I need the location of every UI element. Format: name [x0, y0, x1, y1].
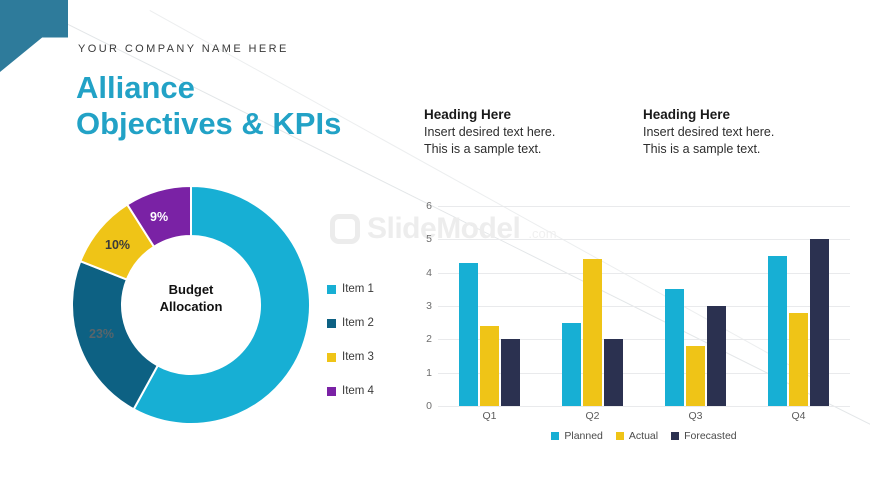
- bar-actual[interactable]: [480, 326, 499, 406]
- bar-chart-groups: [438, 206, 850, 406]
- text-block-2-line1: Insert desired text here.: [643, 124, 774, 141]
- y-axis-tick-label: 4: [412, 267, 432, 279]
- donut-legend-item[interactable]: Item 1: [327, 272, 374, 306]
- bar-legend-label: Planned: [564, 430, 603, 442]
- text-block-1: Heading Here Insert desired text here. T…: [424, 107, 555, 157]
- y-axis-tick-label: 2: [412, 333, 432, 345]
- corner-accent-shape: [0, 0, 68, 72]
- donut-slice-value-2: 23%: [89, 327, 114, 341]
- y-axis-tick-label: 6: [412, 200, 432, 212]
- bar-group: [644, 206, 747, 406]
- page-title-line1: Alliance: [76, 70, 195, 105]
- donut-legend-label: Item 4: [342, 385, 374, 397]
- legend-swatch-icon: [327, 319, 336, 328]
- bar-legend-label: Forecasted: [684, 430, 737, 442]
- donut-legend-item[interactable]: Item 3: [327, 340, 374, 374]
- page-title-line2: Objectives & KPIs: [76, 106, 476, 142]
- donut-center-line2: Allocation: [68, 298, 314, 315]
- donut-slice-value-3: 10%: [105, 238, 130, 252]
- bar-actual[interactable]: [686, 346, 705, 406]
- bar-legend-item[interactable]: Forecasted: [671, 430, 737, 442]
- donut-legend-label: Item 1: [342, 283, 374, 295]
- text-block-2: Heading Here Insert desired text here. T…: [643, 107, 774, 157]
- bar-actual[interactable]: [583, 259, 602, 406]
- page-title: Alliance Objectives & KPIs: [76, 70, 476, 142]
- text-block-2-line2: This is a sample text.: [643, 141, 774, 158]
- bar-planned[interactable]: [768, 256, 787, 406]
- x-axis-tick-label: Q3: [644, 410, 747, 422]
- bar-group: [541, 206, 644, 406]
- bar-forecasted[interactable]: [604, 339, 623, 406]
- bar-actual[interactable]: [789, 313, 808, 406]
- y-axis-tick-label: 0: [412, 400, 432, 412]
- bar-chart-x-axis: Q1Q2Q3Q4: [438, 410, 850, 422]
- bar-chart-legend: PlannedActualForecasted: [438, 430, 850, 442]
- donut-legend-item[interactable]: Item 4: [327, 374, 374, 408]
- donut-legend: Item 1Item 2Item 3Item 4: [327, 272, 374, 408]
- bar-group: [747, 206, 850, 406]
- legend-swatch-icon: [327, 353, 336, 362]
- bar-legend-item[interactable]: Planned: [551, 430, 603, 442]
- donut-center-line1: Budget: [68, 281, 314, 298]
- donut-center-label: Budget Allocation: [68, 281, 314, 315]
- x-axis-tick-label: Q4: [747, 410, 850, 422]
- bar-planned[interactable]: [665, 289, 684, 406]
- y-axis-tick-label: 1: [412, 367, 432, 379]
- y-axis-tick-label: 5: [412, 233, 432, 245]
- bar-forecasted[interactable]: [501, 339, 520, 406]
- bar-legend-item[interactable]: Actual: [616, 430, 658, 442]
- legend-swatch-icon: [327, 387, 336, 396]
- text-block-1-line1: Insert desired text here.: [424, 124, 555, 141]
- text-block-2-heading: Heading Here: [643, 107, 774, 122]
- bar-forecasted[interactable]: [810, 239, 829, 406]
- x-axis-tick-label: Q1: [438, 410, 541, 422]
- company-name: YOUR COMPANY NAME HERE: [78, 43, 289, 55]
- bar-chart: 6543210 Q1Q2Q3Q4 PlannedActualForecasted: [412, 198, 862, 448]
- donut-slice-value-4: 9%: [150, 210, 168, 224]
- y-axis-tick-label: 3: [412, 300, 432, 312]
- donut-legend-item[interactable]: Item 2: [327, 306, 374, 340]
- bar-legend-label: Actual: [629, 430, 658, 442]
- gridline: [438, 406, 850, 407]
- legend-swatch-icon: [327, 285, 336, 294]
- donut-chart: Budget Allocation: [68, 186, 314, 424]
- legend-swatch-icon: [551, 432, 559, 440]
- donut-slice-value-1: 58%: [198, 319, 223, 333]
- donut-legend-label: Item 2: [342, 317, 374, 329]
- x-axis-tick-label: Q2: [541, 410, 644, 422]
- bar-forecasted[interactable]: [707, 306, 726, 406]
- legend-swatch-icon: [616, 432, 624, 440]
- text-block-1-heading: Heading Here: [424, 107, 555, 122]
- bar-planned[interactable]: [459, 263, 478, 406]
- text-block-1-line2: This is a sample text.: [424, 141, 555, 158]
- slide-canvas: SlideModel .com YOUR COMPANY NAME HERE A…: [0, 0, 870, 489]
- bar-planned[interactable]: [562, 323, 581, 406]
- slidemodel-logo-icon: [330, 214, 360, 244]
- legend-swatch-icon: [671, 432, 679, 440]
- bar-group: [438, 206, 541, 406]
- donut-legend-label: Item 3: [342, 351, 374, 363]
